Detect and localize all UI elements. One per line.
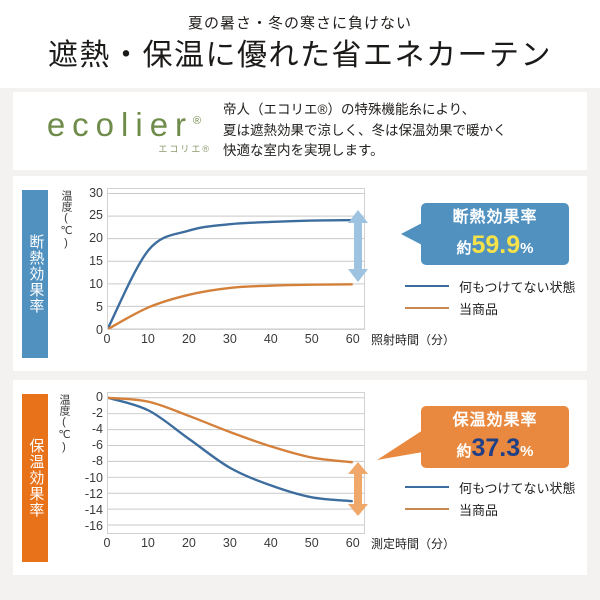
- y-tick-label: 5: [96, 300, 103, 314]
- x-tick-label: 0: [104, 332, 111, 346]
- y-tick-label: 25: [89, 208, 103, 222]
- badge-value-warmth: 約37.3%: [456, 436, 533, 461]
- y-tick-label: -6: [92, 438, 103, 452]
- legend-item-none-warm: 何もつけてない状態: [405, 476, 575, 498]
- legend-swatch-product: [405, 307, 449, 309]
- badge-percent-warmth: %: [520, 443, 533, 460]
- y-axis-title-warmth: 温度(℃): [53, 394, 69, 453]
- y-tick-label: -8: [92, 454, 103, 468]
- x-tick-label: 40: [264, 332, 278, 346]
- logo-wordmark: ecolier®: [41, 108, 201, 141]
- x-tick-label: 20: [182, 536, 196, 550]
- ecolier-logo: ecolier® エコリエ®: [13, 108, 223, 154]
- y-tick-label: 30: [89, 186, 103, 200]
- y-axis-ticks-insulation: 302520151050: [75, 188, 103, 330]
- legend-label-product: 当商品: [459, 299, 498, 318]
- insulation-gap-arrow: [347, 210, 369, 282]
- x-tick-label: 40: [264, 536, 278, 550]
- y-tick-label: -10: [85, 471, 103, 485]
- x-tick-label: 20: [182, 332, 196, 346]
- legend-label-product-warm: 当商品: [459, 500, 498, 519]
- y-axis-title-insulation: 温度(℃): [55, 190, 71, 249]
- warmth-gap-arrow: [347, 462, 369, 516]
- legend-item-product: 当商品: [405, 297, 575, 319]
- y-tick-label: 10: [89, 277, 103, 291]
- warmth-plot-svg: [108, 393, 364, 533]
- series-line-none: [108, 220, 352, 328]
- brand-intro-card: ecolier® エコリエ® 帝人（エコリエ®）の特殊機能糸により、 夏は遮熱効…: [13, 92, 587, 170]
- y-tick-label: -4: [92, 422, 103, 436]
- x-tick-label: 60: [346, 332, 360, 346]
- legend-label-none-warm: 何もつけてない状態: [459, 478, 575, 497]
- y-tick-label: -16: [85, 519, 103, 533]
- badge-percent-insulation: %: [520, 240, 533, 257]
- legend-swatch-product-warm: [405, 508, 449, 510]
- page-header: 夏の暑さ・冬の寒さに負けない 遮熱・保温に優れた省エネカーテン: [0, 0, 600, 88]
- side-tab-insulation: 断熱効果率: [22, 190, 48, 358]
- x-tick-label: 10: [141, 332, 155, 346]
- badge-prefix-warmth: 約: [456, 443, 471, 460]
- side-tab-warmth: 保温効果率: [22, 394, 48, 562]
- x-tick-label: 30: [223, 332, 237, 346]
- gridlines-warmth: [108, 398, 364, 525]
- insulation-plot: [107, 188, 365, 330]
- insulation-plot-area: 302520151050: [75, 188, 367, 340]
- y-tick-label: 15: [89, 254, 103, 268]
- insulation-result-badge: 断熱効果率 約59.9%: [421, 203, 569, 265]
- intro-line-2: 夏は遮熱効果で涼しく、冬は保温効果で暖かく: [223, 121, 573, 142]
- intro-description: 帝人（エコリエ®）の特殊機能糸により、 夏は遮熱効果で涼しく、冬は保温効果で暖か…: [223, 100, 587, 163]
- x-axis-ticks-warmth: 0102030405060: [107, 536, 365, 552]
- x-tick-label: 30: [223, 536, 237, 550]
- x-axis-title-insulation: 照射時間（分）: [371, 331, 455, 348]
- warmth-result-badge: 保温効果率 約37.3%: [421, 406, 569, 468]
- y-tick-label: -12: [85, 487, 103, 501]
- logo-text: ecolier: [47, 106, 193, 143]
- logo-registered-mark: ®: [193, 115, 201, 127]
- intro-line-3: 快適な室内を実現します。: [223, 141, 573, 162]
- x-tick-label: 60: [346, 536, 360, 550]
- legend-label-none: 何もつけてない状態: [459, 277, 575, 296]
- x-axis-title-warmth: 測定時間（分）: [371, 535, 455, 552]
- y-tick-label: 20: [89, 231, 103, 245]
- y-tick-label: -2: [92, 406, 103, 420]
- badge-value-insulation: 約59.9%: [456, 233, 533, 258]
- intro-line-1: 帝人（エコリエ®）の特殊機能糸により、: [223, 100, 573, 121]
- warmth-legend: 何もつけてない状態 当商品: [405, 476, 575, 520]
- infographic-page: 夏の暑さ・冬の寒さに負けない 遮熱・保温に優れた省エネカーテン ecolier®…: [0, 0, 600, 600]
- page-title: 遮熱・保温に優れた省エネカーテン: [48, 41, 552, 71]
- header-subtitle: 夏の暑さ・冬の寒さに負けない: [188, 17, 412, 32]
- x-tick-label: 10: [141, 536, 155, 550]
- y-tick-label: 0: [96, 323, 103, 337]
- legend-swatch-none: [405, 285, 449, 287]
- legend-swatch-none-warm: [405, 486, 449, 488]
- badge-pointer-insulation: [401, 223, 422, 245]
- badge-pointer-warmth: [377, 430, 423, 460]
- x-axis-ticks-insulation: 0102030405060: [107, 332, 365, 348]
- insulation-chart-card: 断熱効果率 温度(℃) 302520151050 0102030405060 照…: [13, 176, 587, 371]
- badge-number-insulation: 59.9: [472, 231, 521, 259]
- warmth-plot-area: 0-2-4-6-8-10-12-14-16: [71, 392, 363, 544]
- badge-number-warmth: 37.3: [472, 434, 521, 462]
- x-tick-label: 0: [104, 536, 111, 550]
- logo-katakana: エコリエ®: [158, 145, 223, 154]
- warmth-chart-card: 保温効果率 温度(℃) 0-2-4-6-8-10-12-14-16 010203…: [13, 380, 587, 575]
- insulation-legend: 何もつけてない状態 当商品: [405, 275, 575, 319]
- badge-prefix-insulation: 約: [456, 240, 471, 257]
- insulation-plot-svg: [108, 189, 364, 329]
- badge-title-insulation: 断熱効果率: [452, 210, 537, 226]
- legend-item-none: 何もつけてない状態: [405, 275, 575, 297]
- y-tick-label: -14: [85, 503, 103, 517]
- y-tick-label: 0: [96, 390, 103, 404]
- x-tick-label: 50: [305, 332, 319, 346]
- warmth-plot: [107, 392, 365, 534]
- badge-title-warmth: 保温効果率: [452, 413, 537, 429]
- y-axis-ticks-warmth: 0-2-4-6-8-10-12-14-16: [71, 392, 103, 534]
- legend-item-product-warm: 当商品: [405, 498, 575, 520]
- x-tick-label: 50: [305, 536, 319, 550]
